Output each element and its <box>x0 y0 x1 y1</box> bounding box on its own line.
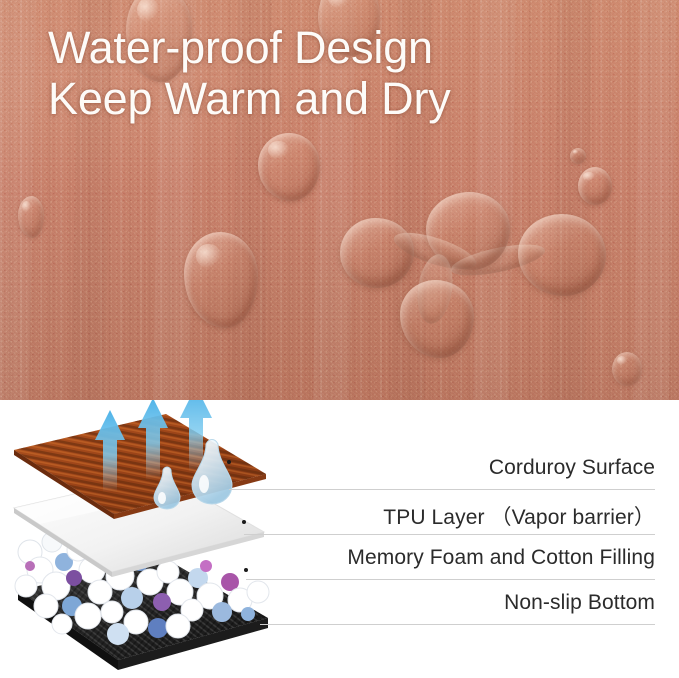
waterproof-photo-panel: Water-proof Design Keep Warm and Dry <box>0 0 679 400</box>
water-bead <box>570 148 586 164</box>
page-title: Water-proof Design Keep Warm and Dry <box>48 22 451 125</box>
water-bead <box>18 196 44 238</box>
callout-dot-tpu <box>242 520 246 524</box>
merged-water-bead <box>322 196 622 366</box>
callout-label-filling: Memory Foam and Cotton Filling <box>347 546 655 570</box>
callout-line-bottom <box>260 624 655 625</box>
callout-label-bottom: Non-slip Bottom <box>504 591 655 615</box>
infographic-page: Water-proof Design Keep Warm and Dry <box>0 0 679 678</box>
bead-lobe <box>340 218 414 288</box>
bead-lobe <box>426 192 510 270</box>
callout-line-tpu <box>244 534 655 535</box>
layer-diagram-panel: Corduroy Surface TPU Layer （Vapor barrie… <box>0 400 679 678</box>
callout-dot-filling <box>244 568 248 572</box>
callout-label-corduroy: Corduroy Surface <box>489 456 655 480</box>
callout-line-corduroy <box>229 489 655 490</box>
callout-label-tpu: TPU Layer （Vapor barrier） <box>383 501 655 531</box>
bead-lobe <box>400 280 474 358</box>
water-bead <box>258 133 320 201</box>
layer-callouts: Corduroy Surface TPU Layer （Vapor barrie… <box>0 400 679 678</box>
callout-dot-bottom <box>258 614 262 618</box>
bead-lobe <box>518 214 606 296</box>
callout-line-filling <box>246 579 655 580</box>
callout-dot-corduroy <box>227 460 231 464</box>
